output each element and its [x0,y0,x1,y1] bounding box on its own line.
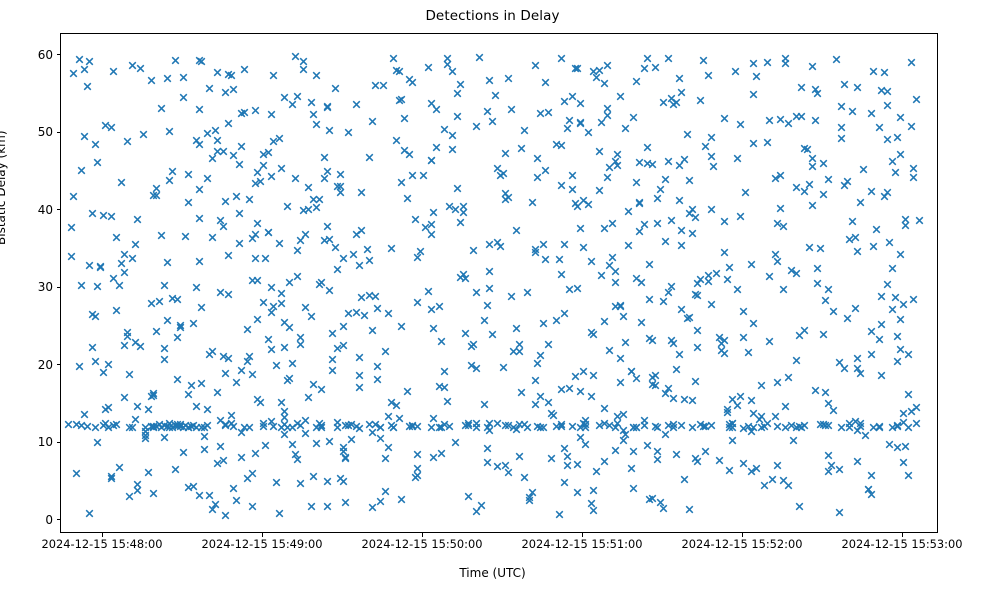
scatter-marker [517,144,526,153]
scatter-marker [309,380,318,389]
scatter-marker [339,254,348,263]
scatter-marker [483,458,492,467]
scatter-marker [821,296,830,305]
scatter-marker [728,419,737,428]
scatter-marker [291,174,300,183]
scatter-marker [720,248,729,257]
scatter-marker [213,459,222,468]
scatter-marker [760,481,769,490]
scatter-marker [259,298,268,307]
scatter-marker [749,59,758,68]
scatter-marker [267,283,276,292]
scatter-marker [656,185,665,194]
scatter-marker [680,155,689,164]
scatter-marker [179,73,188,82]
scatter-marker [835,508,844,517]
scatter-marker [544,398,553,407]
scatter-marker [389,423,398,432]
scatter-marker [91,357,100,366]
scatter-marker [707,152,716,161]
scatter-marker [595,66,604,75]
scatter-marker [597,271,606,280]
scatter-marker [877,86,886,95]
x-tick-label: 2024-12-15 15:49:00 [202,538,323,550]
scatter-marker [875,123,884,132]
scatter-marker [619,436,628,445]
scatter-marker [643,143,652,152]
scatter-marker [243,474,252,483]
scatter-marker [899,458,908,467]
scatter-marker [912,403,921,412]
scatter-marker [669,339,678,348]
scatter-marker [347,435,356,444]
scatter-marker [600,317,609,326]
scatter-marker [624,207,633,216]
plot-area[interactable] [60,33,938,533]
scatter-marker [723,405,732,414]
scatter-marker [501,461,510,470]
scatter-marker [485,240,494,249]
scatter-marker [725,263,734,272]
scatter-marker [885,238,894,247]
scatter-marker [869,67,878,76]
scatter-marker [624,241,633,250]
scatter-marker [168,167,177,176]
scatter-marker [272,361,281,370]
scatter-marker [467,361,476,370]
scatter-marker [371,81,380,90]
scatter-marker [563,452,572,461]
scatter-marker [573,460,582,469]
scatter-marker [253,315,262,324]
scatter-marker [669,423,678,432]
scatter-marker [253,276,262,285]
scatter-marker [147,76,156,85]
scatter-marker [435,302,444,311]
scatter-marker [277,164,286,173]
scatter-marker [245,352,254,361]
scatter-marker [195,185,204,194]
scatter-marker [733,285,742,294]
scatter-marker [581,440,590,449]
scatter-marker [901,442,910,451]
scatter-marker [208,233,217,242]
scatter-marker [184,390,193,399]
scatter-marker [688,229,697,238]
scatter-marker [893,422,902,431]
scatter-marker [264,228,273,237]
scatter-marker [285,278,294,287]
scatter-marker [384,309,393,318]
scatter-marker [797,83,806,92]
scatter-marker [901,221,910,230]
scatter-marker [195,140,204,149]
scatter-marker [568,422,577,431]
scatter-marker [320,174,329,183]
scatter-marker [283,423,292,432]
scatter-marker [397,95,406,104]
scatter-marker [653,219,662,228]
scatter-marker [485,284,494,293]
scatter-marker [645,334,654,343]
scatter-marker [867,187,876,196]
scatter-marker [621,338,630,347]
scatter-marker [221,369,230,378]
scatter-marker [253,168,262,177]
scatter-marker [264,335,273,344]
scatter-marker [320,153,329,162]
scatter-marker [448,131,457,140]
scatter-marker [856,422,865,431]
scatter-marker [853,426,862,435]
scatter-marker [520,473,529,482]
scatter-marker [472,423,481,432]
scatter-marker [203,421,212,430]
scatter-marker [675,161,684,170]
scatter-marker [72,420,81,429]
scatter-marker [677,241,686,250]
scatter-marker [557,270,566,279]
scatter-marker [813,279,822,288]
scatter-marker [240,65,249,74]
scatter-marker [221,88,230,97]
scatter-marker [645,260,654,269]
scatter-marker [608,253,617,262]
scatter-marker [357,293,366,302]
scatter-marker [712,269,721,278]
scatter-marker [99,368,108,377]
scatter-marker [171,56,180,65]
scatter-marker [736,392,745,401]
scatter-marker [608,219,617,228]
scatter-marker [427,220,436,229]
scatter-marker [907,122,916,131]
scatter-marker [160,433,169,442]
scatter-marker [664,421,673,430]
scatter-marker [133,215,142,224]
scatter-marker [528,198,537,207]
scatter-marker [536,392,545,401]
scatter-marker [853,457,862,466]
scatter-marker [368,326,377,335]
scatter-marker [693,279,702,288]
scatter-marker [531,248,540,257]
scatter-marker [600,224,609,233]
scatter-marker [80,132,89,141]
scatter-marker [675,350,684,359]
scatter-marker [243,357,252,366]
scatter-marker [357,226,366,235]
scatter-marker [445,202,454,211]
scatter-marker [411,215,420,224]
scatter-marker [856,369,865,378]
scatter-marker [259,150,268,159]
scatter-marker [248,469,257,478]
scatter-marker [587,328,596,337]
scatter-marker [739,333,748,342]
scatter-marker [667,216,676,225]
scatter-marker [312,439,321,448]
scatter-marker [763,419,772,428]
scatter-marker [277,299,286,308]
scatter-marker [824,451,833,460]
scatter-marker [749,139,758,148]
scatter-marker [224,251,233,260]
scatter-marker [429,414,438,423]
scatter-marker [656,498,665,507]
scatter-marker [464,419,473,428]
scatter-marker [307,98,316,107]
scatter-marker [195,257,204,266]
scatter-marker [576,423,585,432]
scatter-marker [211,500,220,509]
scatter-marker [613,412,622,421]
scatter-marker [661,389,670,398]
scatter-marker [907,407,916,416]
scatter-marker [749,90,758,99]
scatter-marker [296,236,305,245]
scatter-marker [176,321,185,330]
scatter-marker [461,421,470,430]
scatter-marker [893,421,902,430]
scatter-marker [824,175,833,184]
scatter-marker [171,465,180,474]
scatter-marker [856,419,865,428]
scatter-marker [803,145,812,154]
scatter-marker [272,478,281,487]
scatter-marker [344,421,353,430]
scatter-marker [123,332,132,341]
scatter-marker [704,71,713,80]
scatter-marker [168,423,177,432]
scatter-marker [816,420,825,429]
scatter-marker [701,422,710,431]
scatter-marker [288,423,297,432]
scatter-marker [509,423,518,432]
scatter-marker [547,409,556,418]
scatter-marker [904,390,913,399]
scatter-marker [725,466,734,475]
scatter-marker [275,134,284,143]
scatter-marker [267,417,276,426]
scatter-marker [448,145,457,154]
scatter-marker [155,297,164,306]
scatter-marker [83,82,92,91]
scatter-marker [576,119,585,128]
scatter-marker [216,288,225,297]
scatter-marker [189,319,198,328]
scatter-marker [629,447,638,456]
scatter-marker [355,353,364,362]
scatter-marker [227,411,236,420]
scatter-marker [237,366,246,375]
scatter-marker [539,240,548,249]
scatter-marker [603,104,612,113]
scatter-marker [291,450,300,459]
scatter-marker [107,474,116,483]
scatter-marker [365,291,374,300]
scatter-marker [773,378,782,387]
scatter-marker [885,440,894,449]
scatter-marker [813,264,822,273]
scatter-marker [883,135,892,144]
scatter-marker [840,80,849,89]
scatter-marker [296,340,305,349]
scatter-marker [531,400,540,409]
scatter-marker [648,494,657,503]
scatter-marker [325,286,334,295]
scatter-marker [443,60,452,69]
scatter-marker [635,227,644,236]
scatter-marker [93,158,102,167]
scatter-marker [445,422,454,431]
scatter-marker [179,93,188,102]
scatter-marker [203,129,212,138]
scatter-marker [453,89,462,98]
scatter-marker [749,423,758,432]
scatter-marker [501,189,510,198]
x-tick-mark [582,533,583,537]
scatter-marker [749,319,758,328]
scatter-marker [904,471,913,480]
scatter-marker [693,457,702,466]
scatter-marker [829,406,838,415]
scatter-marker [877,292,886,301]
scatter-marker [771,412,780,421]
scatter-marker [165,419,174,428]
scatter-marker [304,205,313,214]
scatter-marker [320,236,329,245]
scatter-marker [277,289,286,298]
scatter-marker [427,305,436,314]
scatter-marker [763,138,772,147]
scatter-marker [333,418,342,427]
scatter-marker [107,212,116,221]
scatter-marker [221,197,230,206]
scatter-marker [208,347,217,356]
scatter-marker [64,420,73,429]
scatter-marker [875,423,884,432]
scatter-marker [523,423,532,432]
scatter-marker [891,168,900,177]
scatter-marker [336,182,345,191]
scatter-marker [640,64,649,73]
scatter-marker [192,283,201,292]
scatter-marker [120,268,129,277]
scatter-marker [173,295,182,304]
scatter-marker [240,423,249,432]
scatter-marker [635,158,644,167]
scatter-marker [157,104,166,113]
scatter-marker [715,333,724,342]
scatter-marker [845,235,854,244]
scatter-marker [355,261,364,270]
scatter-marker [147,392,156,401]
scatter-marker [267,345,276,354]
scatter-marker [485,76,494,85]
scatter-marker [80,410,89,419]
scatter-marker [341,453,350,462]
scatter-marker [589,506,598,515]
scatter-marker [464,492,473,501]
scatter-marker [355,424,364,433]
scatter-marker [776,171,785,180]
scatter-marker [563,124,572,133]
scatter-marker [459,270,468,279]
scatter-marker [413,298,422,307]
scatter-marker [280,343,289,352]
scatter-marker [147,422,156,431]
scatter-marker [285,323,294,332]
scatter-marker [531,61,540,70]
scatter-marker [203,174,212,183]
scatter-marker [787,421,796,430]
scatter-marker [221,421,230,430]
scatter-marker [899,409,908,418]
scatter-marker [91,140,100,149]
scatter-marker [651,381,660,390]
scatter-marker [163,258,172,267]
scatter-marker [525,496,534,505]
scatter-marker [235,160,244,169]
scatter-marker [365,256,374,265]
scatter-marker [312,203,321,212]
scatter-marker [629,423,638,432]
scatter-marker [435,382,444,391]
scatter-marker [891,293,900,302]
scatter-marker [573,284,582,293]
scatter-marker [528,488,537,497]
scatter-marker [392,66,401,75]
scatter-marker [883,87,892,96]
scatter-marker [120,250,129,259]
scatter-marker [109,274,118,283]
scatter-marker [91,312,100,321]
scatter-marker [805,180,814,189]
scatter-marker [843,177,852,186]
scatter-marker [784,373,793,382]
scatter-marker [611,157,620,166]
x-tick-mark [262,533,263,537]
scatter-marker [616,301,625,310]
scatter-marker [896,315,905,324]
scatter-marker [253,219,262,228]
scatter-marker [645,295,654,304]
scatter-marker [661,175,670,184]
scatter-marker [565,384,574,393]
scatter-marker [643,54,652,63]
scatter-marker [488,117,497,126]
scatter-marker [893,133,902,142]
scatter-marker [141,434,150,443]
scatter-marker [877,320,886,329]
scatter-marker [661,430,670,439]
scatter-marker [504,193,513,202]
scatter-marker [328,329,337,338]
scatter-marker [224,119,233,128]
scatter-marker [331,84,340,93]
scatter-marker [397,322,406,331]
scatter-marker [773,461,782,470]
scatter-marker [336,474,345,483]
scatter-marker [176,420,185,429]
scatter-marker [672,98,681,107]
scatter-marker [659,297,668,306]
scatter-marker [216,442,225,451]
scatter-marker [189,482,198,491]
scatter-marker [248,234,257,243]
scatter-marker [461,274,470,283]
